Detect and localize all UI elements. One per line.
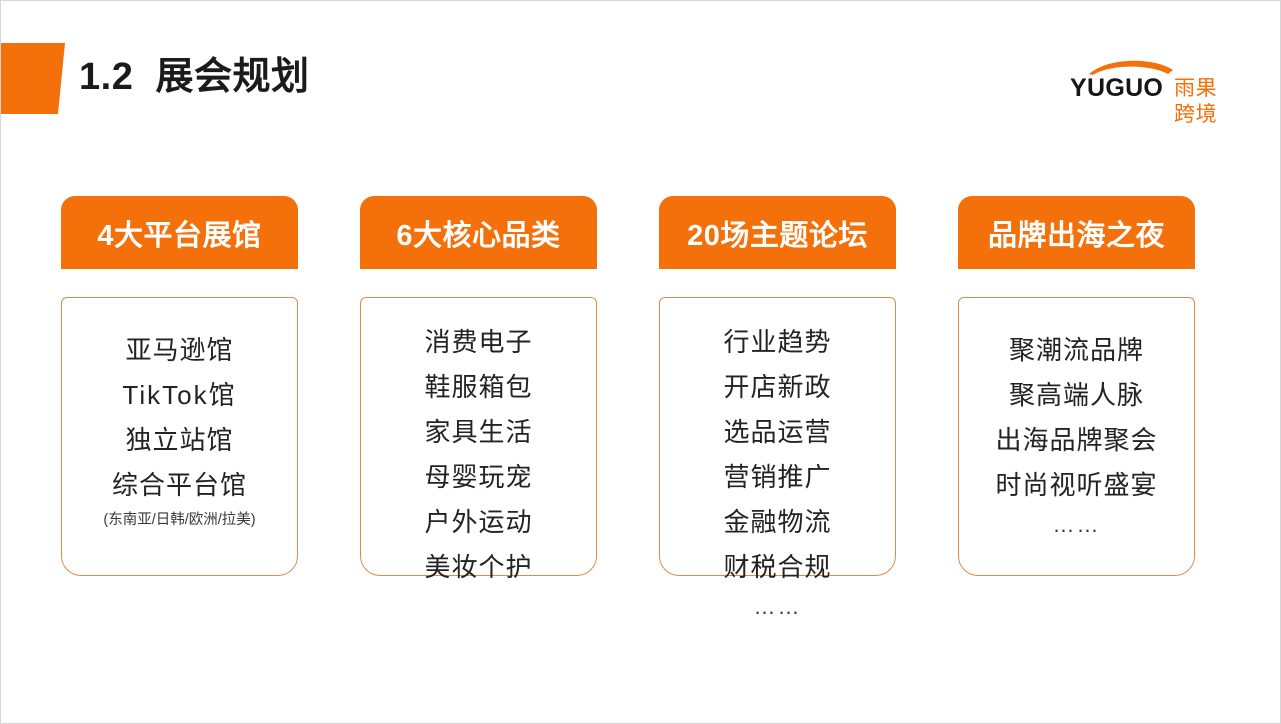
list-item: 户外运动 bbox=[424, 500, 532, 545]
column-body-4: 聚潮流品牌 聚高端人脉 出海品牌聚会 时尚视听盛宴 …… bbox=[958, 297, 1195, 576]
list-item: TikTok馆 bbox=[122, 373, 236, 418]
column-core-categories: 6大核心品类 消费电子 鞋服箱包 家具生活 母婴玩宠 户外运动 美妆个护 bbox=[360, 196, 597, 576]
column-subnote-1: (东南亚/日韩/欧洲/拉美) bbox=[103, 508, 255, 532]
logo-wordmark: YUGUO bbox=[1070, 73, 1163, 103]
list-item: 聚高端人脉 bbox=[1009, 373, 1144, 418]
column-ellipsis-4: …… bbox=[1053, 508, 1101, 542]
list-item: 美妆个护 bbox=[424, 545, 532, 590]
list-item: 金融物流 bbox=[723, 500, 831, 545]
logo-chinese-name: 雨果跨境 bbox=[1174, 76, 1238, 128]
list-item: 亚马逊馆 bbox=[125, 328, 233, 373]
title-accent-shape bbox=[1, 43, 65, 114]
list-item: 综合平台馆 bbox=[112, 463, 247, 508]
list-item: 独立站馆 bbox=[125, 418, 233, 463]
column-header-2: 6大核心品类 bbox=[360, 196, 597, 269]
slide-canvas: 1.2 展会规划 YUGUO 雨果跨境 4大平台展馆 亚马逊馆 TikTok馆 … bbox=[0, 0, 1281, 724]
list-item: 鞋服箱包 bbox=[424, 365, 532, 410]
column-body-1: 亚马逊馆 TikTok馆 独立站馆 综合平台馆 (东南亚/日韩/欧洲/拉美) bbox=[61, 297, 298, 576]
list-item: 时尚视听盛宴 bbox=[995, 463, 1157, 508]
column-header-4: 品牌出海之夜 bbox=[958, 196, 1195, 269]
column-header-3: 20场主题论坛 bbox=[659, 196, 896, 269]
brand-logo: YUGUO 雨果跨境 bbox=[1070, 57, 1238, 105]
column-header-1: 4大平台展馆 bbox=[61, 196, 298, 269]
column-body-3: 行业趋势 开店新政 选品运营 营销推广 金融物流 财税合规 …… bbox=[659, 297, 896, 576]
column-group: 4大平台展馆 亚马逊馆 TikTok馆 独立站馆 综合平台馆 (东南亚/日韩/欧… bbox=[61, 196, 1201, 576]
list-item: 母婴玩宠 bbox=[424, 455, 532, 500]
list-item: 出海品牌聚会 bbox=[995, 418, 1157, 463]
column-brand-night: 品牌出海之夜 聚潮流品牌 聚高端人脉 出海品牌聚会 时尚视听盛宴 …… bbox=[958, 196, 1195, 576]
column-ellipsis-3: …… bbox=[754, 590, 802, 624]
page-title: 1.2 展会规划 bbox=[79, 49, 309, 105]
column-theme-forums: 20场主题论坛 行业趋势 开店新政 选品运营 营销推广 金融物流 财税合规 …… bbox=[659, 196, 896, 576]
list-item: 聚潮流品牌 bbox=[1009, 328, 1144, 373]
list-item: 开店新政 bbox=[723, 365, 831, 410]
list-item: 消费电子 bbox=[424, 320, 532, 365]
list-item: 家具生活 bbox=[424, 410, 532, 455]
list-item: 财税合规 bbox=[723, 545, 831, 590]
list-item: 行业趋势 bbox=[723, 320, 831, 365]
list-item: 营销推广 bbox=[723, 455, 831, 500]
column-platform-halls: 4大平台展馆 亚马逊馆 TikTok馆 独立站馆 综合平台馆 (东南亚/日韩/欧… bbox=[61, 196, 298, 576]
list-item: 选品运营 bbox=[723, 410, 831, 455]
column-body-2: 消费电子 鞋服箱包 家具生活 母婴玩宠 户外运动 美妆个护 bbox=[360, 297, 597, 576]
